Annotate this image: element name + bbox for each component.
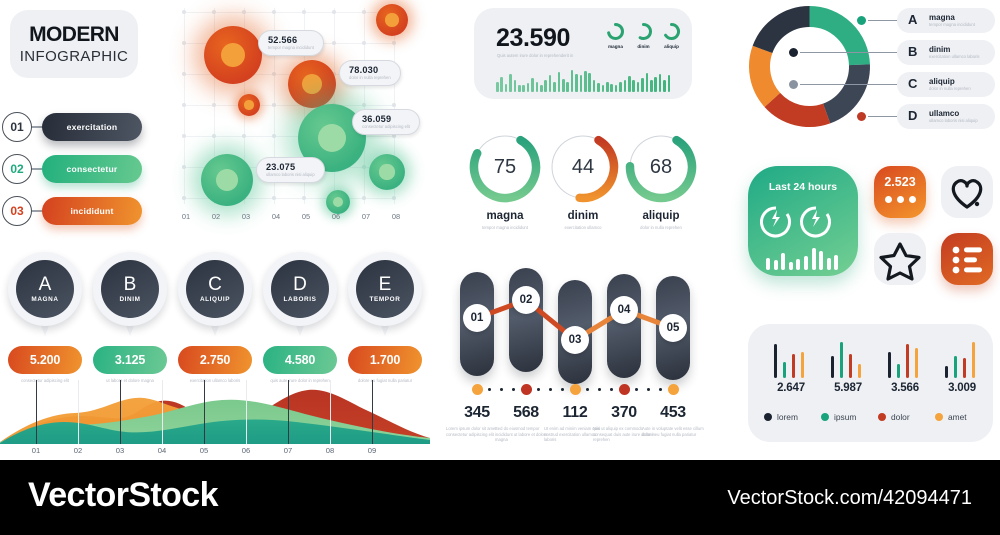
counter-dots: [874, 196, 926, 203]
stat-bar: [840, 342, 843, 378]
stat-value: 5.987: [825, 382, 871, 394]
pin-inner: ETEMPOR: [356, 260, 414, 318]
list-tile[interactable]: [941, 233, 993, 285]
stat-bars: [882, 342, 928, 378]
stat-legend-item[interactable]: ipsum: [821, 412, 856, 422]
pin-letter: B: [124, 275, 137, 295]
bubble: [288, 60, 336, 108]
legend-name: aliquip: [929, 77, 955, 86]
spark-bar: [584, 71, 587, 92]
grid-dot: [272, 103, 276, 107]
tile-bar: [819, 251, 823, 270]
grid-dot: [242, 134, 246, 138]
capsule-node[interactable]: 05: [659, 314, 687, 342]
gauge-name: aliquip: [606, 210, 716, 222]
area-x-label: 02: [69, 446, 87, 455]
bubble: [238, 94, 260, 116]
star-tile[interactable]: [874, 233, 926, 285]
tile-bar: [796, 259, 800, 270]
pin-name: LABORIS: [284, 296, 317, 303]
grid-dot: [272, 72, 276, 76]
pin-value-pill[interactable]: 2.750: [178, 346, 252, 374]
capsules-chart: 0102030405 345Lorem ipsum dolor sit amet…: [455, 258, 705, 453]
stat-legend-dot: [764, 413, 772, 421]
bubble-callout-desc: tempor magna incididunt: [268, 45, 314, 51]
stat-bar: [783, 362, 786, 378]
grid-dot: [362, 10, 366, 14]
footer-bar: VectorStock VectorStock.com/42094471: [0, 460, 1000, 535]
marker-dot-small: [635, 388, 638, 391]
stat-bar: [774, 344, 777, 378]
bubble-core: [244, 100, 253, 109]
spark-bar: [518, 85, 521, 92]
stat-legend-label: ipsum: [834, 412, 856, 422]
grid-dot: [362, 41, 366, 45]
legend-name: magna: [929, 13, 955, 22]
bubble-x-label: 01: [177, 212, 195, 221]
grid-dot: [392, 41, 396, 45]
list-pill-label[interactable]: consectetur: [42, 155, 142, 183]
list-pill-label[interactable]: incididunt: [42, 197, 142, 225]
area-tick: [288, 380, 289, 444]
stat-bar: [897, 364, 900, 378]
spark-bar: [540, 85, 543, 92]
marker-dot-small: [610, 388, 613, 391]
gauge-value: 68: [624, 130, 698, 204]
spark-bar: [575, 74, 578, 92]
legend-item-d[interactable]: D ullamco ullamco laboris nisi aliquip: [897, 104, 995, 129]
capsule-value: 453: [644, 404, 702, 422]
spark-bar: [500, 77, 503, 92]
area-x-label: 08: [321, 446, 339, 455]
spark-bar: [597, 83, 600, 92]
bubble: [369, 154, 405, 190]
map-pin[interactable]: BDINIM: [93, 252, 167, 340]
tile-bar: [834, 255, 838, 270]
gauge: 68: [624, 130, 698, 204]
stat-legend-dot: [935, 413, 943, 421]
legend-letter: A: [908, 12, 917, 27]
stat-legend-label: amet: [948, 412, 967, 422]
area-tick: [246, 380, 247, 444]
stat-bar: [858, 364, 861, 378]
title-card: MODERN INFOGRAPHIC: [10, 10, 138, 78]
spark-bar: [580, 75, 583, 92]
bubble-x-label: 03: [237, 212, 255, 221]
stat-value: 3.009: [939, 382, 985, 394]
area-tick: [162, 380, 163, 444]
spark-bar: [536, 82, 539, 92]
legend-letter: B: [908, 44, 917, 59]
legend-desc: dolor in nulla reprehen: [929, 86, 991, 92]
tile-bar: [789, 262, 793, 270]
area-tick: [204, 380, 205, 444]
spark-bar: [663, 80, 666, 92]
stat-bar: [915, 348, 918, 378]
stat-value: 3.566: [882, 382, 928, 394]
counter-value: 2.523: [874, 175, 926, 189]
stat-group: 2.647: [768, 342, 814, 378]
capsule-node[interactable]: 02: [512, 286, 540, 314]
tile-bar: [774, 260, 778, 270]
area-tick: [120, 380, 121, 444]
stat-group: 5.987: [825, 342, 871, 378]
stat-bar: [963, 358, 966, 378]
bubble-callout-desc: ullamco laboris nisi aliquip: [266, 172, 315, 178]
legend-item-b[interactable]: B dinim exercitation ullamco laboris: [897, 40, 995, 65]
area-x-label: 04: [153, 446, 171, 455]
mini-donut: [662, 22, 681, 41]
pin-value-pill[interactable]: 1.700: [348, 346, 422, 374]
bubble-callout-value: 78.030: [349, 65, 391, 75]
marker-dot-small: [647, 388, 650, 391]
area-x-label: 03: [111, 446, 129, 455]
mini-donut-label: magna: [603, 44, 629, 49]
counter-tile[interactable]: 2.523: [874, 166, 926, 218]
marker-dot: [521, 384, 532, 395]
bubble-callout-value: 52.566: [268, 35, 314, 45]
grid-dot: [392, 103, 396, 107]
marker-dot: [570, 384, 581, 395]
marker-dot: [619, 384, 630, 395]
area-x-label: 07: [279, 446, 297, 455]
spark-bar: [628, 76, 631, 92]
spark-bar: [571, 70, 574, 92]
bubble-core: [379, 164, 394, 179]
gauge-desc: dolor in nulla reprehen: [602, 225, 720, 231]
stat-legend-item[interactable]: lorem: [764, 412, 798, 422]
grid-dot: [332, 10, 336, 14]
spark-bar: [624, 80, 627, 93]
marker-dot-small: [586, 388, 589, 391]
spark-bar: [514, 80, 517, 92]
spark-bar: [562, 79, 565, 92]
pin-letter: A: [39, 275, 52, 295]
grid-dot: [272, 196, 276, 200]
spark-bar: [632, 80, 635, 92]
stat-legend-item[interactable]: amet: [935, 412, 967, 422]
area-tick: [36, 380, 37, 444]
stat-legend-dot: [878, 413, 886, 421]
stat-bar: [972, 342, 975, 378]
bubble-x-label: 04: [267, 212, 285, 221]
pin-value-pill[interactable]: 5.200: [8, 346, 82, 374]
capsule-node[interactable]: 01: [463, 304, 491, 332]
spark-bar: [668, 75, 671, 92]
bubble-callout-value: 36.059: [362, 114, 410, 124]
pin-name: DINIM: [119, 296, 140, 303]
spark-bar: [544, 80, 547, 93]
grid-dot: [272, 10, 276, 14]
area-x-label: 05: [195, 446, 213, 455]
bubble-x-label: 08: [387, 212, 405, 221]
bubble-x-label: 05: [297, 212, 315, 221]
bubble: [204, 26, 262, 84]
spark-bar: [505, 84, 508, 92]
legend-connector: [868, 116, 897, 117]
spark-bar: [527, 83, 530, 92]
pin-inner: CALIQUIP: [186, 260, 244, 318]
stat-legend-dot: [821, 413, 829, 421]
spark-bar: [531, 78, 534, 92]
spark-bar: [509, 74, 512, 92]
stats-card: 2.6475.9873.5663.009 loremipsumdoloramet: [748, 324, 993, 442]
spark-bar: [566, 82, 569, 92]
spark-bar: [496, 82, 499, 92]
bubble-core: [302, 74, 322, 94]
grid-dot: [182, 41, 186, 45]
marker-dot-small: [537, 388, 540, 391]
grid-dot: [362, 165, 366, 169]
tile-bars: [766, 248, 840, 270]
pin-letter: D: [293, 275, 307, 295]
pin-name: MAGNA: [31, 296, 58, 303]
area-tick: [372, 380, 373, 444]
grid-dot: [212, 10, 216, 14]
kpi-card: 23.590 Quis autem irure dolor in reprehe…: [474, 8, 692, 99]
mini-donut-label: dinim: [631, 44, 657, 49]
grid-dot: [272, 134, 276, 138]
tile-bar: [812, 248, 816, 270]
list-number-badge: 01: [2, 112, 32, 142]
list-icon: [941, 233, 993, 285]
stat-legend-label: dolor: [891, 412, 910, 422]
legend-dot: [857, 112, 866, 121]
favorite-tile[interactable]: [941, 166, 993, 218]
legend-desc: tempor magna incididunt: [929, 22, 991, 28]
legend-connector: [868, 20, 897, 21]
list-pill-label[interactable]: exercitation: [42, 113, 142, 141]
area-chart: [0, 380, 430, 444]
donut-ring: [747, 4, 872, 129]
bubble-callout[interactable]: 36.059 consectetur adipiscing elit: [352, 109, 420, 135]
spark-bar: [615, 85, 618, 92]
capsule-node[interactable]: 04: [610, 296, 638, 324]
title-line-1: MODERN: [29, 23, 119, 47]
pins-area-chart: AMAGNA5.200consectetur adipiscing elitBD…: [0, 252, 430, 460]
stat-bar: [945, 366, 948, 378]
stat-bar: [888, 352, 891, 378]
tile-bar: [804, 256, 808, 270]
marker-dot-small: [549, 388, 552, 391]
tile-bar: [766, 258, 770, 270]
spark-bar: [659, 74, 662, 92]
marker-dot-small: [488, 388, 491, 391]
infographic-canvas: MODERN INFOGRAPHIC 01 exercitation 02 co…: [0, 0, 1000, 535]
pin-inner: AMAGNA: [16, 260, 74, 318]
spark-bar: [650, 80, 653, 92]
bubble-core: [318, 124, 347, 153]
stat-bars: [768, 342, 814, 378]
bubble: [376, 4, 408, 36]
bubble-x-label: 07: [357, 212, 375, 221]
legend-letter: D: [908, 108, 917, 123]
bubble: [326, 190, 350, 214]
spark-bar: [606, 82, 609, 92]
tile-bar: [827, 258, 831, 270]
grid-dot: [302, 196, 306, 200]
stat-value: 2.647: [768, 382, 814, 394]
stat-bar: [792, 354, 795, 378]
stat-legend-item[interactable]: dolor: [878, 412, 910, 422]
footer-url: VectorStock.com/42094471: [727, 487, 972, 510]
bubble-x-label: 06: [327, 212, 345, 221]
stat-bar: [831, 356, 834, 378]
stat-bar: [906, 344, 909, 378]
kpi-sparkline: [496, 70, 672, 92]
bubble-callout-desc: dolor in nulla reprehen: [349, 75, 391, 81]
spark-bar: [558, 72, 561, 92]
kpi-value: 23.590: [496, 24, 570, 53]
stat-bar: [801, 352, 804, 378]
grid-dot: [362, 103, 366, 107]
list-item[interactable]: 02 consectetur: [2, 154, 142, 184]
grid-dot: [182, 10, 186, 14]
mini-donut: [606, 22, 625, 41]
legend-dot: [789, 80, 798, 89]
capsule-desc: Aute in voluptate velit esse cillum dolo…: [642, 426, 704, 437]
legend-dot: [789, 48, 798, 57]
star-icon: [874, 233, 926, 285]
legend-desc: exercitation ullamco laboris: [929, 54, 991, 60]
grid-dot: [212, 134, 216, 138]
grid-dot: [362, 196, 366, 200]
map-pin[interactable]: ETEMPOR: [348, 252, 422, 340]
bubble-x-label: 02: [207, 212, 225, 221]
tile-header: Last 24 hours: [748, 181, 858, 193]
stat-group: 3.009: [939, 342, 985, 378]
spark-bar: [588, 73, 591, 92]
spark-bar: [553, 82, 556, 92]
bubble-core: [221, 43, 245, 67]
marker-dot-small: [512, 388, 515, 391]
spark-bar: [637, 82, 640, 92]
area-x-label: 06: [237, 446, 255, 455]
grid-dot: [182, 165, 186, 169]
grid-dot: [212, 103, 216, 107]
bubble-callout[interactable]: 52.566 tempor magna incididunt: [258, 30, 324, 56]
pin-letter: C: [208, 275, 222, 295]
legend-connector: [800, 84, 897, 85]
spark-bar: [646, 73, 649, 92]
bolt-icons: [748, 198, 858, 244]
spark-bar: [522, 85, 525, 92]
stat-legend-label: lorem: [777, 412, 798, 422]
marker-dot-small: [561, 388, 564, 391]
marker-dot: [668, 384, 679, 395]
gauge-value: 44: [546, 130, 620, 204]
spark-bar: [619, 82, 622, 92]
area-tick: [78, 380, 79, 444]
area-x-label: 09: [363, 446, 381, 455]
kpi-description: Quis autem irure dolor in reprehenderit …: [497, 53, 602, 59]
grid-dot: [182, 196, 186, 200]
title-line-2: INFOGRAPHIC: [20, 48, 129, 65]
bubble-callout[interactable]: 23.075 ullamco laboris nisi aliquip: [256, 157, 325, 183]
spark-bar: [602, 85, 605, 92]
marker-dot-small: [598, 388, 601, 391]
stat-bars: [939, 342, 985, 378]
spark-bar: [549, 75, 552, 92]
bubble-callout[interactable]: 78.030 dolor in nulla reprehen: [339, 60, 401, 86]
legend-name: dinim: [929, 45, 950, 54]
legend-connector: [800, 52, 897, 53]
legend-name: ullamco: [929, 109, 959, 118]
area-tick: [330, 380, 331, 444]
grid-dot: [182, 103, 186, 107]
map-pin[interactable]: CALIQUIP: [178, 252, 252, 340]
map-pin[interactable]: AMAGNA: [8, 252, 82, 340]
grid-dot: [392, 196, 396, 200]
stat-bar: [954, 356, 957, 378]
gauge-value: 75: [468, 130, 542, 204]
bubble-core: [385, 13, 398, 26]
grid-dot: [392, 134, 396, 138]
stat-group: 3.566: [882, 342, 928, 378]
gauge: 75: [468, 130, 542, 204]
stat-bars: [825, 342, 871, 378]
list-number-badge: 03: [2, 196, 32, 226]
marker-dot-small: [659, 388, 662, 391]
bubble-callout-desc: consectetur adipiscing elit: [362, 124, 410, 130]
legend-item-c[interactable]: C aliquip dolor in nulla reprehen: [897, 72, 995, 97]
brand-wordmark: VectorStock: [28, 476, 218, 515]
map-pin[interactable]: DLABORIS: [263, 252, 337, 340]
donut-chart: [747, 4, 872, 129]
grid-dot: [302, 10, 306, 14]
spark-bar: [641, 78, 644, 92]
grid-dot: [332, 41, 336, 45]
list-item[interactable]: 01 exercitation: [2, 112, 142, 142]
pin-inner: BDINIM: [101, 260, 159, 318]
legend-desc: ullamco laboris nisi aliquip: [929, 118, 991, 124]
marker-dot-small: [500, 388, 503, 391]
pin-value-pill[interactable]: 4.580: [263, 346, 337, 374]
bubble: [201, 154, 253, 206]
heart-icon: [941, 166, 993, 218]
pin-inner: DLABORIS: [271, 260, 329, 318]
bubble-core: [333, 197, 343, 207]
grid-dot: [182, 134, 186, 138]
grid-dot: [242, 10, 246, 14]
bubble-core: [216, 169, 238, 191]
pin-name: ALIQUIP: [200, 296, 230, 303]
list-item[interactable]: 03 incididunt: [2, 196, 142, 226]
pin-value-pill[interactable]: 3.125: [93, 346, 167, 374]
legend-dot: [857, 16, 866, 25]
spark-bar: [610, 84, 613, 92]
capsule-node[interactable]: 03: [561, 326, 589, 354]
pin-letter: E: [379, 275, 392, 295]
stat-bar: [849, 354, 852, 378]
bubble-chart: 52.566 tempor magna incididunt 78.030 do…: [176, 4, 422, 240]
legend-letter: C: [908, 76, 917, 91]
grid-dot: [182, 72, 186, 76]
area-x-label: 01: [27, 446, 45, 455]
mini-donut: [634, 22, 653, 41]
last-24-hours-tile[interactable]: Last 24 hours: [748, 166, 858, 276]
bubble-callout-value: 23.075: [266, 162, 315, 172]
spark-bar: [654, 77, 657, 92]
mini-donut-label: aliquip: [659, 44, 685, 49]
tile-bar: [781, 253, 785, 270]
legend-item-a[interactable]: A magna tempor magna incididunt: [897, 8, 995, 33]
pin-name: TEMPOR: [370, 296, 401, 303]
gauge: 44: [546, 130, 620, 204]
spark-bar: [593, 80, 596, 92]
list-number-badge: 02: [2, 154, 32, 184]
marker-dot: [472, 384, 483, 395]
